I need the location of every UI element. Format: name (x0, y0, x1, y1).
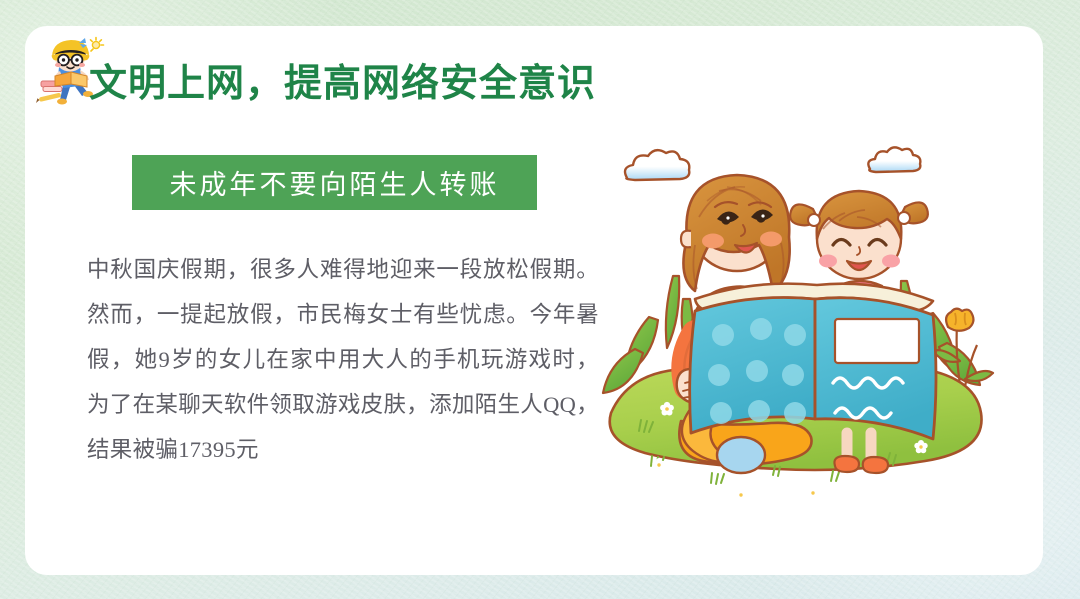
open-book (690, 284, 936, 439)
page-title: 文明上网，提高网络安全意识 (89, 52, 596, 107)
article-paragraph: 中秋国庆假期，很多人难得地迎来一段放松假期。然而，一提起放假，市民梅女士有些忧虑… (87, 247, 599, 472)
slide-page: 文明上网，提高网络安全意识 未成年不要向陌生人转账 中秋国庆假期，很多人难得地迎… (0, 0, 1080, 599)
section-banner-label: 未成年不要向陌生人转账 (170, 163, 500, 202)
cloud-right (868, 147, 920, 172)
header: 文明上网，提高网络安全意识 (25, 26, 1043, 134)
mother-and-daughter-reading-book-illustration (595, 121, 1055, 521)
section-banner: 未成年不要向陌生人转账 (132, 155, 537, 210)
cloud-left (625, 150, 689, 180)
content-card: 文明上网，提高网络安全意识 未成年不要向陌生人转账 中秋国庆假期，很多人难得地迎… (25, 26, 1043, 575)
